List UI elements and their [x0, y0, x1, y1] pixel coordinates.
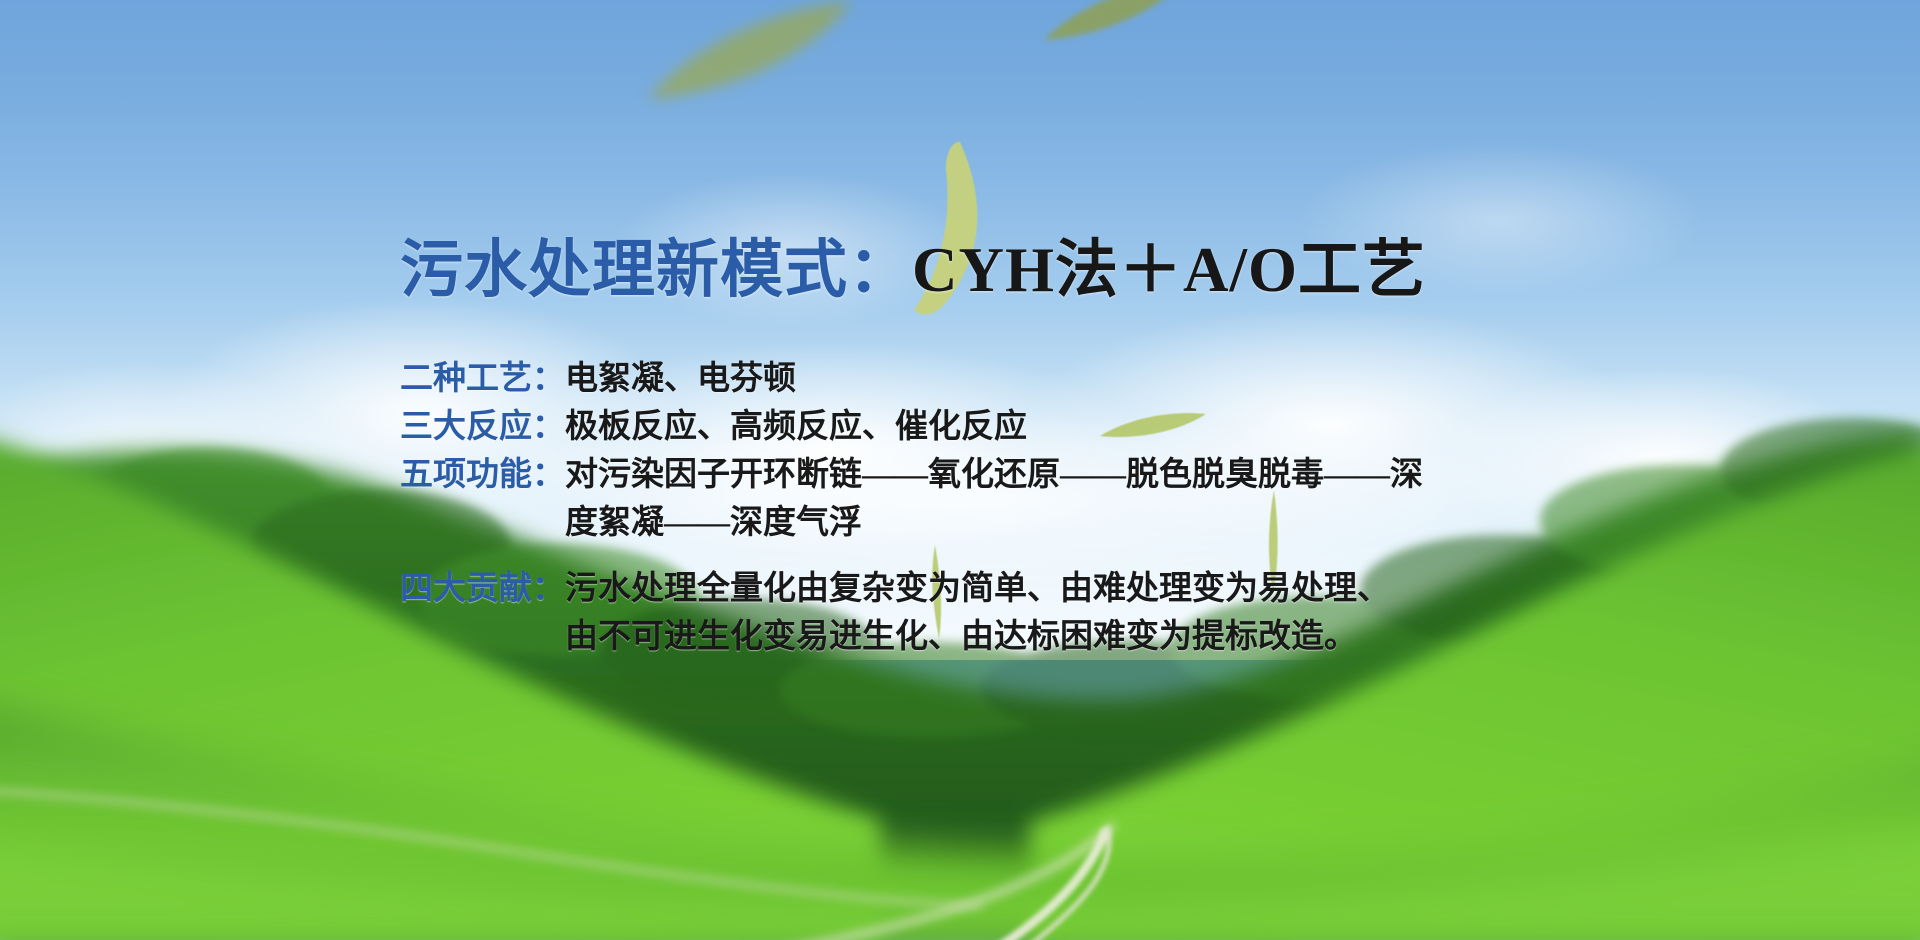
list-item: 三大反应： 极板反应、高频反应、催化反应 [400, 403, 1500, 451]
list-item-line1: 极板反应、高频反应、催化反应 [565, 409, 1027, 445]
feature-list: 二种工艺： 电絮凝、电芬顿 三大反应： 极板反应、高频反应、催化反应 五项功能：… [400, 355, 1500, 661]
list-item-body: 对污染因子开环断链——氧化还原——脱色脱臭脱毒——深度絮凝——深度气浮 [565, 451, 1423, 547]
list-item-line2: 度絮凝——深度气浮 [565, 499, 1423, 547]
list-item-label: 三大反应： [400, 403, 565, 451]
page-title-en: CYH法＋A/O工艺 [912, 235, 1426, 305]
list-item-body: 污水处理全量化由复杂变为简单、由难处理变为易处理、由不可进生化变易进生化、由达标… [565, 565, 1390, 661]
list-item-line1: 对污染因子开环断链——氧化还原——脱色脱臭脱毒——深 [565, 457, 1423, 493]
list-item-line2: 由不可进生化变易进生化、由达标困难变为提标改造。 [565, 613, 1390, 661]
list-item: 四大贡献： 污水处理全量化由复杂变为简单、由难处理变为易处理、由不可进生化变易进… [400, 565, 1500, 661]
page-title: 污水处理新模式：CYH法＋A/O工艺 [400, 237, 1426, 303]
list-item-body: 电絮凝、电芬顿 [565, 355, 796, 403]
list-item: 二种工艺： 电絮凝、电芬顿 [400, 355, 1500, 403]
list-spacer [400, 547, 1500, 565]
list-item-label: 四大贡献： [400, 565, 565, 613]
slide-canvas: 污水处理新模式：CYH法＋A/O工艺 二种工艺： 电絮凝、电芬顿 三大反应： 极… [0, 0, 1920, 940]
list-item-line1: 污水处理全量化由复杂变为简单、由难处理变为易处理、 [565, 571, 1390, 607]
list-item-body: 极板反应、高频反应、催化反应 [565, 403, 1027, 451]
list-item: 五项功能： 对污染因子开环断链——氧化还原——脱色脱臭脱毒——深度絮凝——深度气… [400, 451, 1500, 547]
page-title-cn: 污水处理新模式： [400, 235, 912, 305]
list-item-label: 五项功能： [400, 451, 565, 499]
list-item-line1: 电絮凝、电芬顿 [565, 361, 796, 397]
list-item-label: 二种工艺： [400, 355, 565, 403]
text-overlay: 污水处理新模式：CYH法＋A/O工艺 二种工艺： 电絮凝、电芬顿 三大反应： 极… [0, 0, 1920, 940]
